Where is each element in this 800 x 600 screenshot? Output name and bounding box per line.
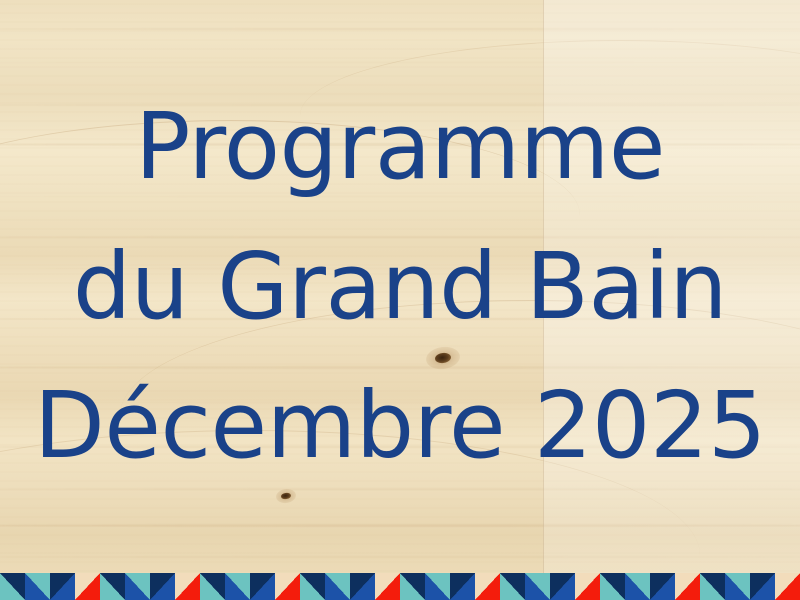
border-tile (375, 573, 400, 600)
border-tile (775, 573, 800, 600)
border-tile (450, 573, 475, 600)
title-line-programme: Programme (135, 87, 665, 207)
border-tile (350, 573, 375, 600)
border-tile (525, 573, 550, 600)
border-tile (50, 573, 75, 600)
border-tile (225, 573, 250, 600)
border-tile (175, 573, 200, 600)
border-tile (550, 573, 575, 600)
border-tile (700, 573, 725, 600)
border-tile (725, 573, 750, 600)
title-line-date: Décembre 2025 (34, 366, 766, 486)
border-tile (425, 573, 450, 600)
poster-slide: Programme du Grand Bain Décembre 2025 (0, 0, 800, 600)
border-tile (300, 573, 325, 600)
border-tile (600, 573, 625, 600)
border-tile (250, 573, 275, 600)
border-tile (750, 573, 775, 600)
border-tile (100, 573, 125, 600)
border-tile (0, 573, 25, 600)
poster-title-block: Programme du Grand Bain Décembre 2025 (0, 0, 800, 573)
border-tile (500, 573, 525, 600)
border-tile (575, 573, 600, 600)
geometric-triangle-border (0, 573, 800, 600)
border-tile (125, 573, 150, 600)
border-tile (400, 573, 425, 600)
border-tile (275, 573, 300, 600)
border-tile (475, 573, 500, 600)
border-tile (200, 573, 225, 600)
border-tile (650, 573, 675, 600)
border-tile (75, 573, 100, 600)
title-line-venue: du Grand Bain (73, 227, 727, 347)
border-tile (150, 573, 175, 600)
border-tile (675, 573, 700, 600)
border-tile (325, 573, 350, 600)
border-tile (25, 573, 50, 600)
border-tile (625, 573, 650, 600)
